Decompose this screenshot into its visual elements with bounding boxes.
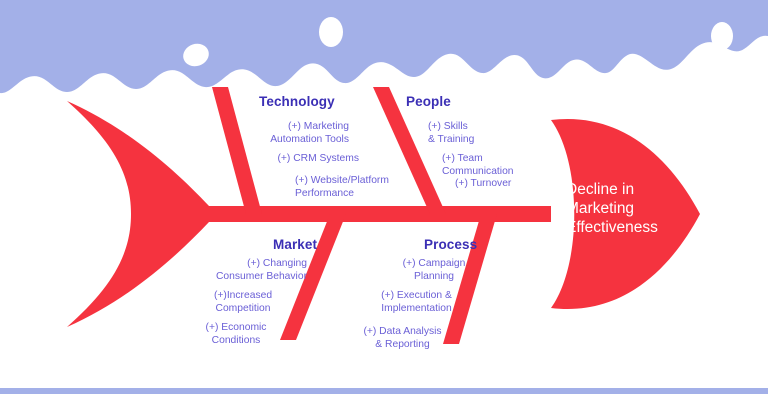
cause-people-2[interactable]: (+) Team Communication — [442, 153, 582, 178]
cause-technology-3[interactable]: (+) Website/Platform Performance — [295, 175, 475, 200]
category-label-market[interactable]: Market — [273, 237, 317, 252]
cause-people-1[interactable]: (+) Skills & Training — [428, 121, 568, 146]
fishbone-diagram-canvas: Decline in Marketing Effectiveness Techn… — [0, 0, 768, 403]
cause-market-2[interactable]: (+)Increased Competition — [188, 290, 298, 315]
cause-process-2[interactable]: (+) Execution & Implementation — [354, 290, 479, 315]
cause-people-3[interactable]: (+) Turnover — [455, 178, 595, 191]
cause-technology-1[interactable]: (+) Marketing Automation Tools — [182, 121, 349, 146]
cause-process-3[interactable]: (+) Data Analysis & Reporting — [340, 326, 465, 351]
cause-market-1[interactable]: (+) Changing Consumer Behavior — [150, 258, 307, 283]
cause-market-3[interactable]: (+) Economic Conditions — [181, 322, 291, 347]
cause-technology-2[interactable]: (+) CRM Systems — [192, 153, 359, 166]
category-label-process[interactable]: Process — [424, 237, 477, 252]
bone-technology — [212, 87, 262, 214]
cause-process-1[interactable]: (+) Campaign Planning — [379, 258, 489, 283]
category-label-technology[interactable]: Technology — [259, 94, 335, 109]
category-label-people[interactable]: People — [406, 94, 451, 109]
